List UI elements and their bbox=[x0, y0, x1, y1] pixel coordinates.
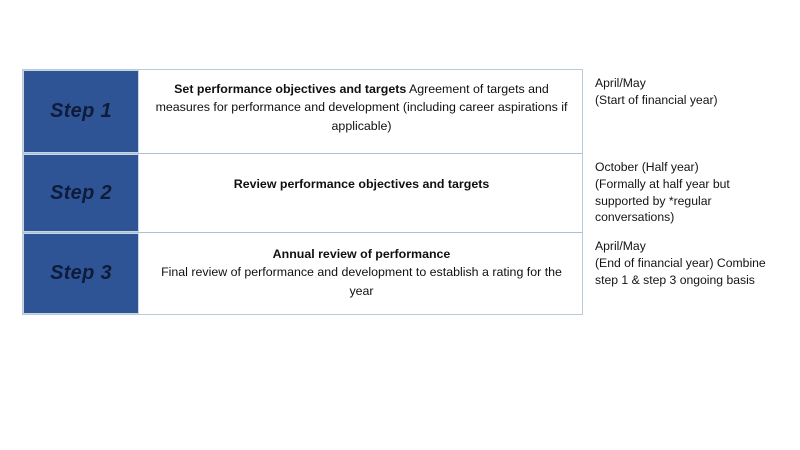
step-label-1: Step 1 bbox=[50, 100, 112, 123]
timing-line: step 1 & step 3 ongoing basis bbox=[595, 272, 800, 289]
timing-line: (Formally at half year but bbox=[595, 176, 800, 193]
step-label-cell-3: Step 3 bbox=[23, 233, 139, 314]
table-row: Step 3 Annual review of performanceFinal… bbox=[23, 233, 582, 314]
step-heading-2: Review performance objectives and target… bbox=[234, 177, 489, 191]
timing-note-step-3: April/May (End of financial year) Combin… bbox=[595, 232, 800, 313]
step-label-cell-1: Step 1 bbox=[23, 70, 139, 153]
table-row: Step 1 Set performance objectives and ta… bbox=[23, 70, 582, 154]
diagram-canvas: Step 1 Set performance objectives and ta… bbox=[0, 0, 800, 450]
timing-line: (End of financial year) Combine bbox=[595, 255, 800, 272]
step-body-cell-2: Review performance objectives and target… bbox=[139, 154, 582, 232]
timing-line: (Start of financial year) bbox=[595, 92, 800, 109]
table-row: Step 2 Review performance objectives and… bbox=[23, 154, 582, 233]
step-label-cell-2: Step 2 bbox=[23, 154, 139, 232]
timing-note-step-1: April/May (Start of financial year) bbox=[595, 69, 800, 153]
timing-annotations: April/May (Start of financial year) Octo… bbox=[595, 69, 800, 313]
timing-line: October (Half year) bbox=[595, 159, 800, 176]
step-description-3: Annual review of performanceFinal review… bbox=[154, 245, 569, 300]
step-label-2: Step 2 bbox=[50, 182, 112, 205]
timing-line: April/May bbox=[595, 238, 800, 255]
timing-line: April/May bbox=[595, 75, 800, 92]
process-step-table: Step 1 Set performance objectives and ta… bbox=[22, 69, 583, 315]
step-heading-1: Set performance objectives and targets bbox=[174, 82, 406, 96]
timing-note-step-2: October (Half year) (Formally at half ye… bbox=[595, 153, 800, 232]
timing-line: conversations) bbox=[595, 209, 800, 226]
step-body-cell-1: Set performance objectives and targets A… bbox=[139, 70, 582, 153]
step-detail-3: Final review of performance and developm… bbox=[161, 265, 562, 297]
timing-line: supported by *regular bbox=[595, 193, 800, 210]
step-heading-3: Annual review of performance bbox=[154, 245, 569, 263]
step-body-cell-3: Annual review of performanceFinal review… bbox=[139, 233, 582, 314]
step-description-2: Review performance objectives and target… bbox=[234, 175, 489, 193]
step-label-3: Step 3 bbox=[50, 262, 112, 285]
step-description-1: Set performance objectives and targets A… bbox=[154, 80, 569, 135]
